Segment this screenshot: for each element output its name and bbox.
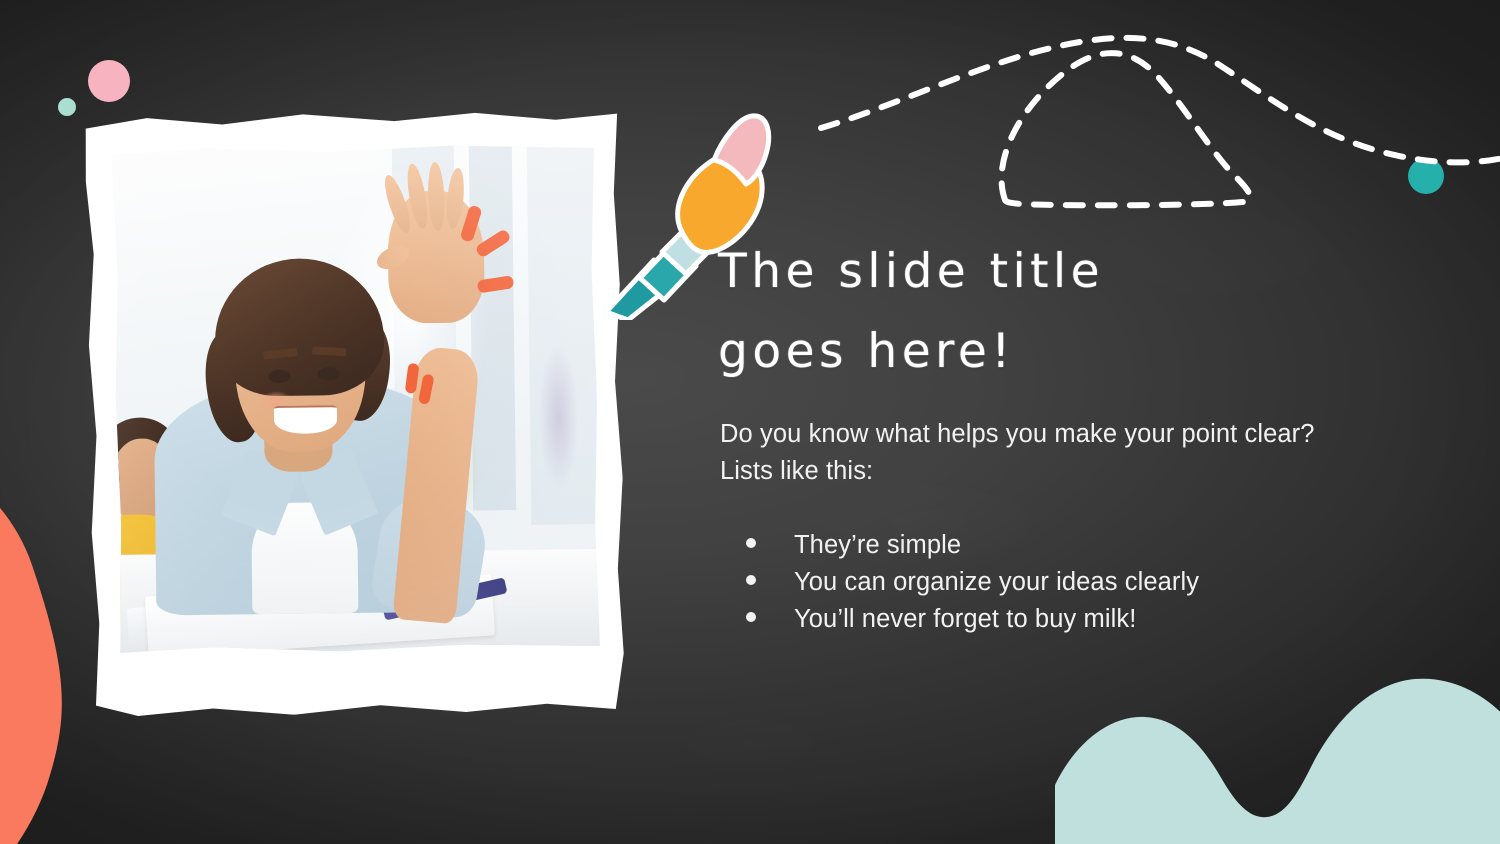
list-item: You can organize your ideas clearly <box>718 565 1358 600</box>
page-title: The slide title goes here! <box>718 232 1358 392</box>
text-content-column: The slide title goes here! Do you know w… <box>718 232 1358 639</box>
mint-wave-blob <box>1055 655 1500 844</box>
mint-dot <box>58 98 76 116</box>
photo-frame <box>82 109 627 721</box>
dashed-loop-doodle <box>1002 53 1250 205</box>
dashed-doodles <box>815 10 1500 220</box>
bullet-list: They’re simple You can organize your ide… <box>718 528 1358 637</box>
photo-soft-light <box>112 143 600 657</box>
list-item: You’ll never forget to buy milk! <box>718 602 1358 637</box>
bullet-dot-icon <box>746 575 756 585</box>
classroom-photo <box>112 143 600 657</box>
bullet-dot-icon <box>746 612 756 622</box>
list-item-label: They’re simple <box>794 528 961 563</box>
presentation-slide: The slide title goes here! Do you know w… <box>0 0 1500 844</box>
list-item-label: You’ll never forget to buy milk! <box>794 602 1136 637</box>
pink-dot <box>88 60 130 102</box>
list-item: They’re simple <box>718 528 1358 563</box>
bullet-dot-icon <box>746 538 756 548</box>
list-item-label: You can organize your ideas clearly <box>794 565 1199 600</box>
body-paragraph: Do you know what helps you make your poi… <box>720 416 1320 490</box>
dashed-arc-doodle <box>821 38 1500 163</box>
